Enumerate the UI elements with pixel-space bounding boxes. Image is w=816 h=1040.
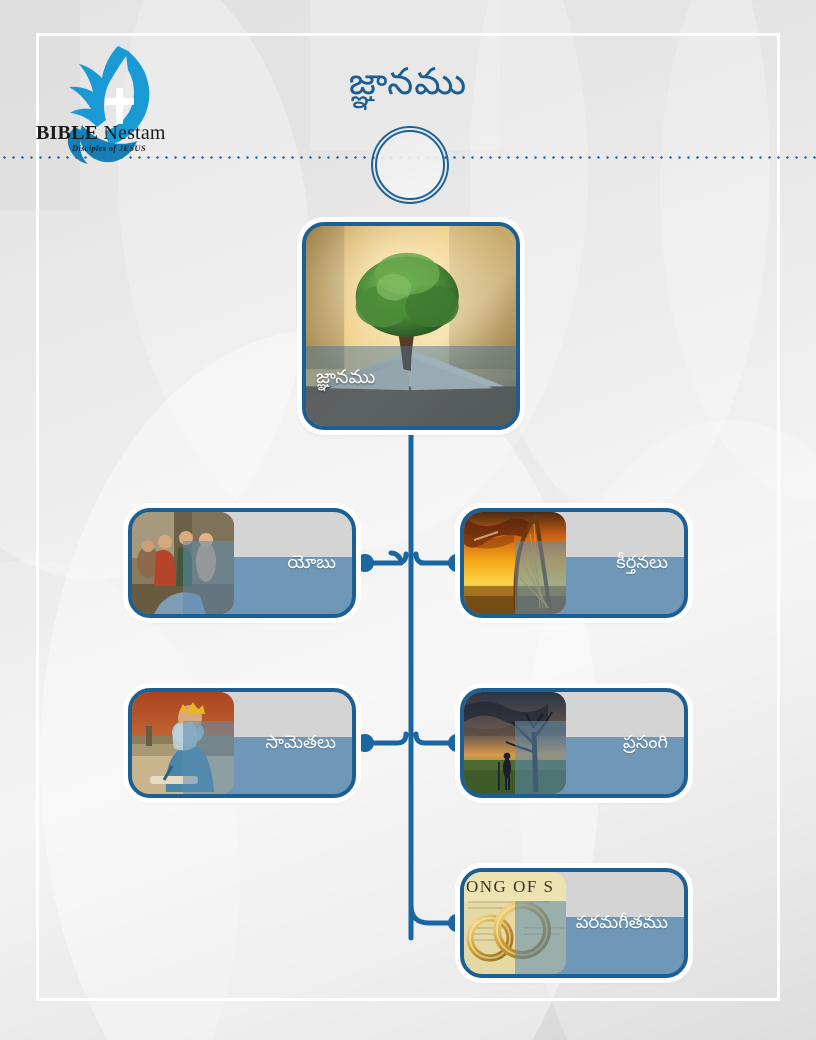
song-image-caption: ONG OF S — [466, 877, 555, 896]
node-card-thumbnail: ONG OF S — [464, 872, 566, 974]
node-card-thumbnail — [132, 692, 234, 794]
node-card-ecclesiastes[interactable]: ప్రసంగి — [460, 688, 688, 798]
node-card-job[interactable]: యోబు — [128, 508, 356, 618]
node-card-thumbnail — [132, 512, 234, 614]
node-card-song-of-songs[interactable]: ONG OF S పరమగీతము — [460, 868, 688, 978]
node-card-label: సామెతలు — [265, 733, 336, 753]
node-card-label: యోబు — [287, 553, 336, 573]
node-card-proverbs[interactable]: సామెతలు — [128, 688, 356, 798]
connector-lines — [0, 0, 816, 1040]
node-card-thumbnail — [464, 512, 566, 614]
node-card-label: కీర్తనలు — [616, 553, 668, 573]
page-canvas: BIBLE Nestam Disciples of JESUS జ్ఞానము — [0, 0, 816, 1040]
node-card-thumbnail — [464, 692, 566, 794]
connector-dot — [356, 734, 374, 752]
node-card-thumbnail-tint — [515, 721, 566, 794]
root-card-label: జ్ఞానము — [316, 368, 375, 388]
node-card-root[interactable]: జ్ఞానము — [302, 222, 520, 430]
node-card-label: ప్రసంగి — [623, 733, 668, 753]
node-card-thumbnail-tint — [515, 901, 566, 974]
node-card-psalms[interactable]: కీర్తనలు — [460, 508, 688, 618]
connector-dot — [356, 554, 374, 572]
node-card-thumbnail-tint — [515, 541, 566, 614]
node-card-thumbnail-tint — [183, 721, 234, 794]
node-card-label: పరమగీతము — [576, 913, 668, 933]
node-card-thumbnail-tint — [183, 541, 234, 614]
